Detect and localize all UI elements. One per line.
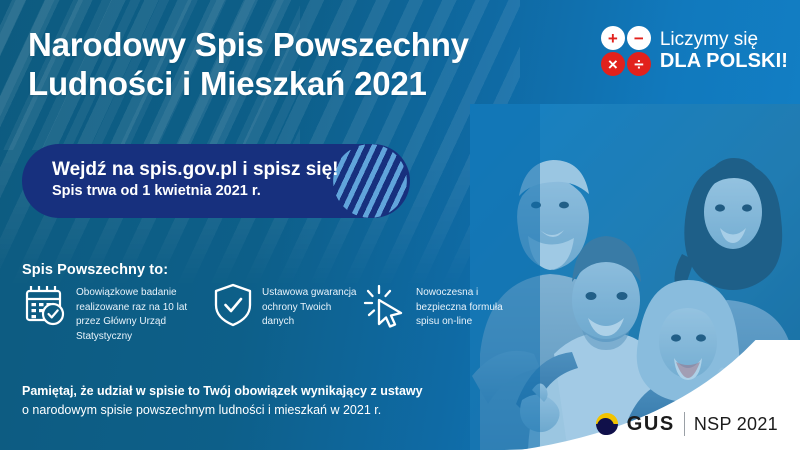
feature-text-online: Nowoczesna i bezpieczna formuła spisu on… bbox=[416, 282, 522, 330]
feature-item-online: Nowoczesna i bezpieczna formuła spisu on… bbox=[362, 282, 522, 344]
math-operators-grid: + − × ÷ bbox=[601, 26, 651, 76]
gus-circle-mark-icon bbox=[596, 413, 618, 435]
minus-operator-icon: − bbox=[627, 26, 651, 50]
gus-mark-disc bbox=[597, 418, 614, 435]
slogan-line-1: Liczymy się bbox=[660, 29, 788, 50]
page-title-line-1: Narodowy Spis Powszechny bbox=[28, 26, 568, 65]
cta-headline: Wejdź na spis.gov.pl i spisz się! bbox=[52, 158, 338, 182]
cta-subline: Spis trwa od 1 kwietnia 2021 r. bbox=[52, 182, 338, 202]
gus-logo[interactable]: GUS NSP 2021 bbox=[596, 412, 778, 436]
nsp-2021-poster: Narodowy Spis Powszechny Ludności i Mies… bbox=[0, 0, 800, 450]
slogan-line-2: DLA POLSKI! bbox=[660, 50, 788, 72]
feature-item-guarantee: Ustawowa gwarancja ochrony Twoich danych bbox=[212, 282, 362, 344]
divide-operator-icon: ÷ bbox=[627, 52, 651, 76]
campaign-slogan: Liczymy się DLA POLSKI! bbox=[660, 29, 788, 73]
shield-check-icon bbox=[212, 282, 254, 333]
feature-text-obligatory: Obowiązkowe badanie realizowane raz na 1… bbox=[76, 282, 212, 344]
features-list: Obowiązkowe badanie realizowane raz na 1… bbox=[22, 282, 522, 344]
campaign-logo-text: NSP 2021 bbox=[694, 414, 778, 435]
page-title-line-2: Ludności i Mieszkań 2021 bbox=[28, 65, 568, 104]
multiply-operator-icon: × bbox=[601, 52, 625, 76]
page-title: Narodowy Spis Powszechny Ludności i Mies… bbox=[28, 26, 568, 103]
calendar-check-icon bbox=[22, 282, 68, 333]
feature-item-obligatory: Obowiązkowe badanie realizowane raz na 1… bbox=[22, 282, 212, 344]
plus-operator-icon: + bbox=[601, 26, 625, 50]
legal-note-line-2: o narodowym spisie powszechnym ludności … bbox=[22, 401, 522, 420]
gus-logo-text: GUS bbox=[627, 413, 675, 436]
banner-stripe-decoration bbox=[326, 144, 410, 218]
legal-note: Pamiętaj, że udział w spisie to Twój obo… bbox=[22, 382, 522, 421]
campaign-badge: + − × ÷ Liczymy się DLA POLSKI! bbox=[601, 26, 788, 76]
gus-logo-divider bbox=[684, 412, 685, 436]
cta-banner-text: Wejdź na spis.gov.pl i spisz się! Spis t… bbox=[52, 158, 338, 201]
cta-banner[interactable]: Wejdź na spis.gov.pl i spisz się! Spis t… bbox=[22, 144, 410, 218]
legal-note-line-1: Pamiętaj, że udział w spisie to Twój obo… bbox=[22, 382, 522, 401]
feature-text-guarantee: Ustawowa gwarancja ochrony Twoich danych bbox=[262, 282, 362, 330]
features-title: Spis Powszechny to: bbox=[22, 262, 168, 278]
cursor-click-icon bbox=[362, 282, 408, 333]
